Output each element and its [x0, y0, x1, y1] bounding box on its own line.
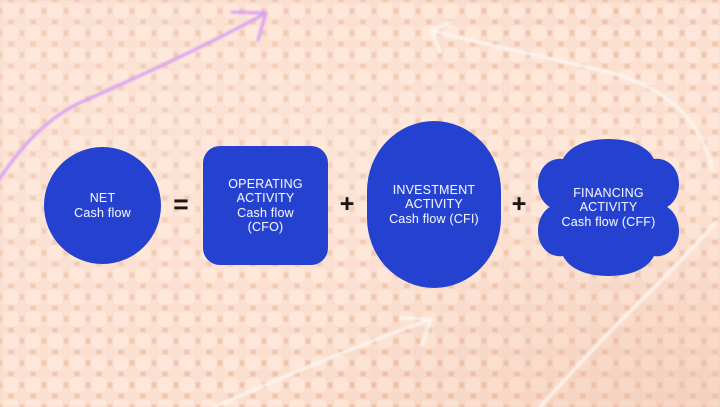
operator-plus-second: +: [505, 192, 533, 217]
node-cff-line-1: FINANCING: [562, 186, 656, 201]
node-cff-line-2: ACTIVITY: [562, 200, 656, 215]
node-cfi-line-3: Cash flow (CFI): [389, 212, 479, 227]
node-cfi-line-2: ACTIVITY: [389, 197, 479, 212]
node-net-line-2: Cash flow: [74, 206, 131, 221]
node-cfi-line-1: INVESTMENT: [389, 183, 479, 198]
node-cff-line-3: Cash flow (CFF): [562, 215, 656, 230]
operator-equals: =: [166, 191, 196, 217]
operator-plus-first: +: [333, 192, 361, 217]
node-operating-activity[interactable]: OPERATING ACTIVITY Cash flow (CFO): [203, 146, 328, 265]
node-cfo-line-2: ACTIVITY: [228, 191, 303, 206]
node-net-cash-flow[interactable]: NET Cash flow: [44, 147, 161, 264]
node-cfo-line-4: (CFO): [228, 220, 303, 235]
node-cff-label: FINANCING ACTIVITY Cash flow (CFF): [536, 137, 681, 278]
node-net-line-1: NET: [74, 191, 131, 206]
node-financing-activity[interactable]: FINANCING ACTIVITY Cash flow (CFF): [536, 137, 681, 278]
node-cfo-line-1: OPERATING: [228, 177, 303, 192]
cash-flow-equation: NET Cash flow = OPERATING ACTIVITY Cash …: [0, 0, 720, 407]
diagram-canvas: NET Cash flow = OPERATING ACTIVITY Cash …: [0, 0, 720, 407]
node-cfo-line-3: Cash flow: [228, 206, 303, 221]
node-investment-activity[interactable]: INVESTMENT ACTIVITY Cash flow (CFI): [367, 121, 501, 288]
